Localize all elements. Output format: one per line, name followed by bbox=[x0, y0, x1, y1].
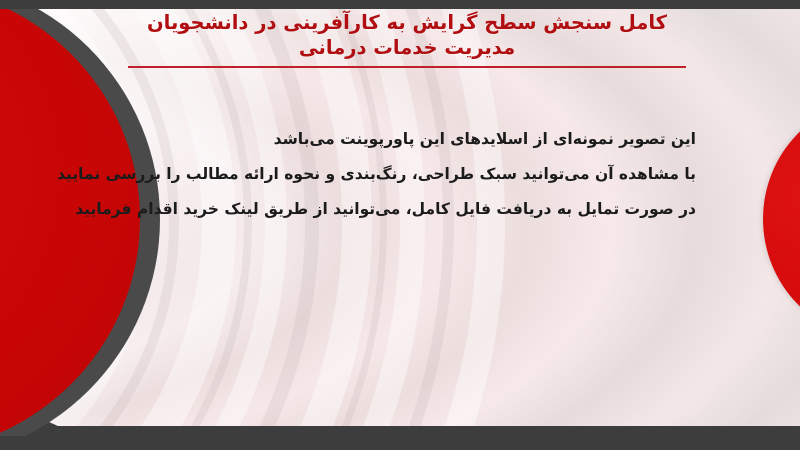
slide-title: کامل سنجش سطح گرایش به کارآفرینی در دانش… bbox=[128, 10, 686, 60]
title-block: کامل سنجش سطح گرایش به کارآفرینی در دانش… bbox=[128, 10, 686, 68]
body-text-block: این تصویر نمونه‌ای از اسلایدهای این پاور… bbox=[96, 122, 696, 227]
body-line-1: این تصویر نمونه‌ای از اسلایدهای این پاور… bbox=[96, 122, 696, 157]
top-frame-band bbox=[0, 0, 800, 9]
title-underline-rule bbox=[128, 66, 686, 68]
body-line-2: با مشاهده آن می‌توانید سبک طراحی، رنگ‌بن… bbox=[96, 157, 696, 192]
bottom-frame-band bbox=[0, 436, 800, 450]
presentation-slide: کامل سنجش سطح گرایش به کارآفرینی در دانش… bbox=[0, 0, 800, 450]
body-line-3: در صورت تمایل به دریافت فایل کامل، می‌تو… bbox=[96, 192, 696, 227]
